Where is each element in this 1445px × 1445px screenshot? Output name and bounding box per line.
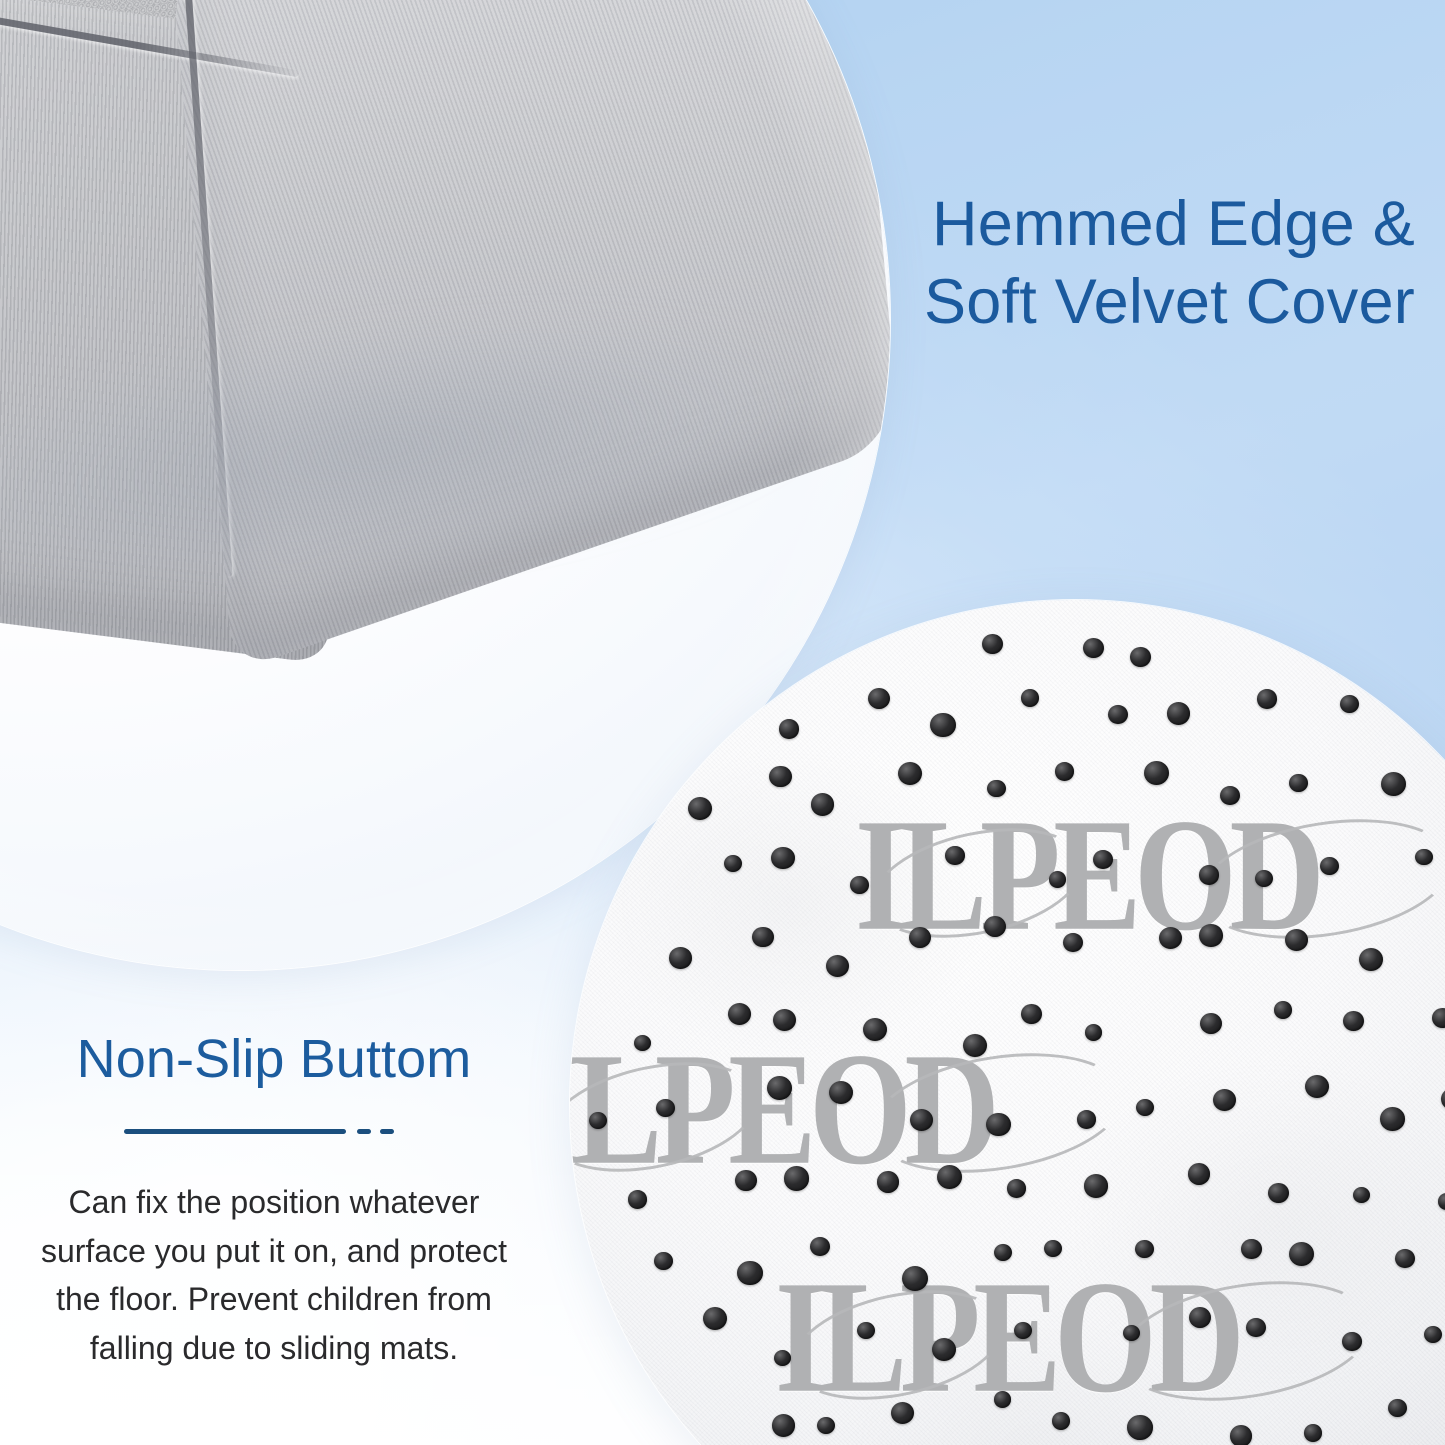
headline: Hemmed Edge & Soft Velvet Cover bbox=[775, 185, 1415, 341]
divider bbox=[124, 1126, 424, 1136]
feature-title: Non-Slip Buttom bbox=[0, 1028, 548, 1090]
headline-line-2: Soft Velvet Cover bbox=[775, 263, 1415, 341]
product-feature-panel: ILPEOD ILPEOD ILPEOD Hemmed Edge & Soft … bbox=[0, 0, 1445, 1445]
feature-block-non-slip: Non-Slip Buttom Can fix the position wha… bbox=[0, 1028, 548, 1373]
divider-dash-2 bbox=[380, 1129, 394, 1134]
headline-line-1: Hemmed Edge & bbox=[775, 185, 1415, 263]
divider-dash-1 bbox=[357, 1129, 371, 1134]
divider-bar bbox=[124, 1129, 346, 1134]
feature-body-text: Can fix the position whatever surface yo… bbox=[0, 1178, 548, 1373]
photo-non-slip-dotted-mat: ILPEOD ILPEOD ILPEOD bbox=[570, 600, 1445, 1445]
